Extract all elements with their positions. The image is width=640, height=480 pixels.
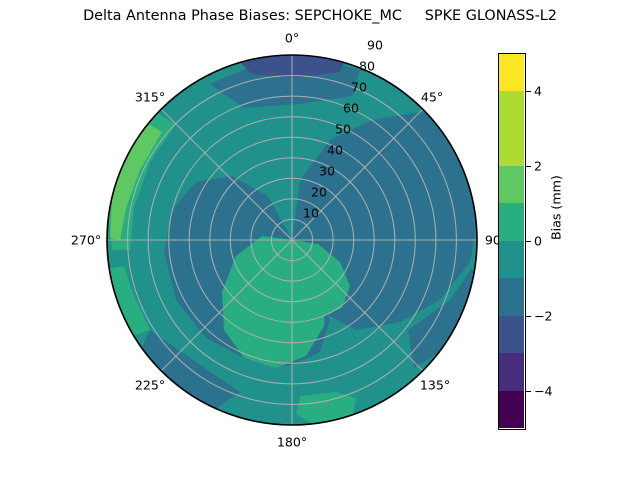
colorbar-band <box>498 203 524 241</box>
theta-tick-180: 180° <box>277 435 307 450</box>
colorbar-band <box>498 91 524 129</box>
r-tick-50: 50 <box>335 122 351 137</box>
r-tick-90: 90 <box>367 38 383 53</box>
colorbar-tick-mark <box>526 91 531 92</box>
r-tick-30: 30 <box>319 164 335 179</box>
theta-tick-0: 0° <box>285 31 299 46</box>
colorbar-tick-label: 4 <box>534 83 542 98</box>
colorbar-tick-label: 0 <box>534 233 542 248</box>
colorbar-band <box>498 128 524 166</box>
colorbar-band <box>498 391 524 429</box>
colorbar-band <box>498 353 524 391</box>
theta-tick-45: 45° <box>421 90 443 105</box>
colorbar-band <box>498 166 524 204</box>
colorbar-tick-label: −4 <box>534 383 553 398</box>
theta-tick-225: 225° <box>135 378 165 393</box>
colorbar-band <box>498 316 524 354</box>
figure-canvas: Delta Antenna Phase Biases: SEPCHOKE_MC … <box>0 0 640 480</box>
theta-tick-270: 270° <box>71 233 101 248</box>
colorbar-tick-mark <box>526 316 531 317</box>
colorbar-axis-label: Bias (mm) <box>549 175 564 240</box>
r-tick-40: 40 <box>327 143 343 158</box>
colorbar-tick-mark <box>526 241 531 242</box>
r-tick-60: 60 <box>343 101 359 116</box>
theta-tick-135: 135° <box>420 378 450 393</box>
colorbar-tick-label: 2 <box>534 158 542 173</box>
colorbar[interactable] <box>498 53 524 428</box>
r-tick-80: 80 <box>359 59 375 74</box>
polar-grid-spokes <box>107 55 477 425</box>
colorbar-tick-mark <box>526 166 531 167</box>
colorbar-band <box>498 53 524 91</box>
r-tick-20: 20 <box>311 185 327 200</box>
colorbar-band <box>498 278 524 316</box>
r-tick-70: 70 <box>351 80 367 95</box>
colorbar-band <box>498 241 524 279</box>
colorbar-tick-label: −2 <box>534 308 553 323</box>
r-tick-10: 10 <box>303 206 319 221</box>
theta-tick-315: 315° <box>135 90 165 105</box>
colorbar-tick-mark <box>526 391 531 392</box>
